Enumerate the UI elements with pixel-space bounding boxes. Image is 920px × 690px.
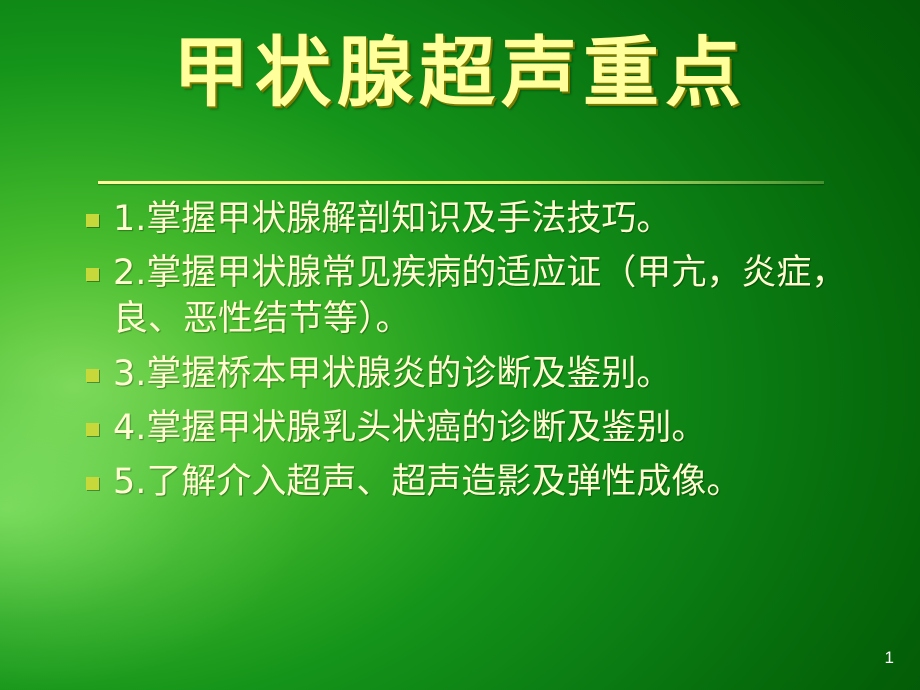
list-item-text: 5.了解介入超声、超声造影及弹性成像。 [113,459,876,505]
bullet-list: 1.掌握甲状腺解剖知识及手法技巧。 2.掌握甲状腺常见疾病的适应证（甲亢，炎症，… [86,196,876,513]
title-divider [98,181,824,184]
list-item-text: 3.掌握桥本甲状腺炎的诊断及鉴别。 [113,351,876,397]
square-bullet-icon [86,369,99,382]
list-item-text: 4.掌握甲状腺乳头状癌的诊断及鉴别。 [113,405,876,451]
page-number: 1 [885,648,894,668]
square-bullet-icon [86,268,99,281]
list-item-text: 2.掌握甲状腺常见疾病的适应证（甲亢，炎症，良、恶性结节等）。 [113,250,876,342]
square-bullet-icon [86,477,99,490]
list-item: 2.掌握甲状腺常见疾病的适应证（甲亢，炎症，良、恶性结节等）。 [86,250,876,342]
square-bullet-icon [86,423,99,436]
list-item: 1.掌握甲状腺解剖知识及手法技巧。 [86,196,876,242]
page-title: 甲状腺超声重点 [0,28,920,118]
list-item-text: 1.掌握甲状腺解剖知识及手法技巧。 [113,196,876,242]
square-bullet-icon [86,214,99,227]
list-item: 3.掌握桥本甲状腺炎的诊断及鉴别。 [86,351,876,397]
list-item: 5.了解介入超声、超声造影及弹性成像。 [86,459,876,505]
presentation-slide: 甲状腺超声重点 1.掌握甲状腺解剖知识及手法技巧。 2.掌握甲状腺常见疾病的适应… [0,0,920,690]
list-item: 4.掌握甲状腺乳头状癌的诊断及鉴别。 [86,405,876,451]
